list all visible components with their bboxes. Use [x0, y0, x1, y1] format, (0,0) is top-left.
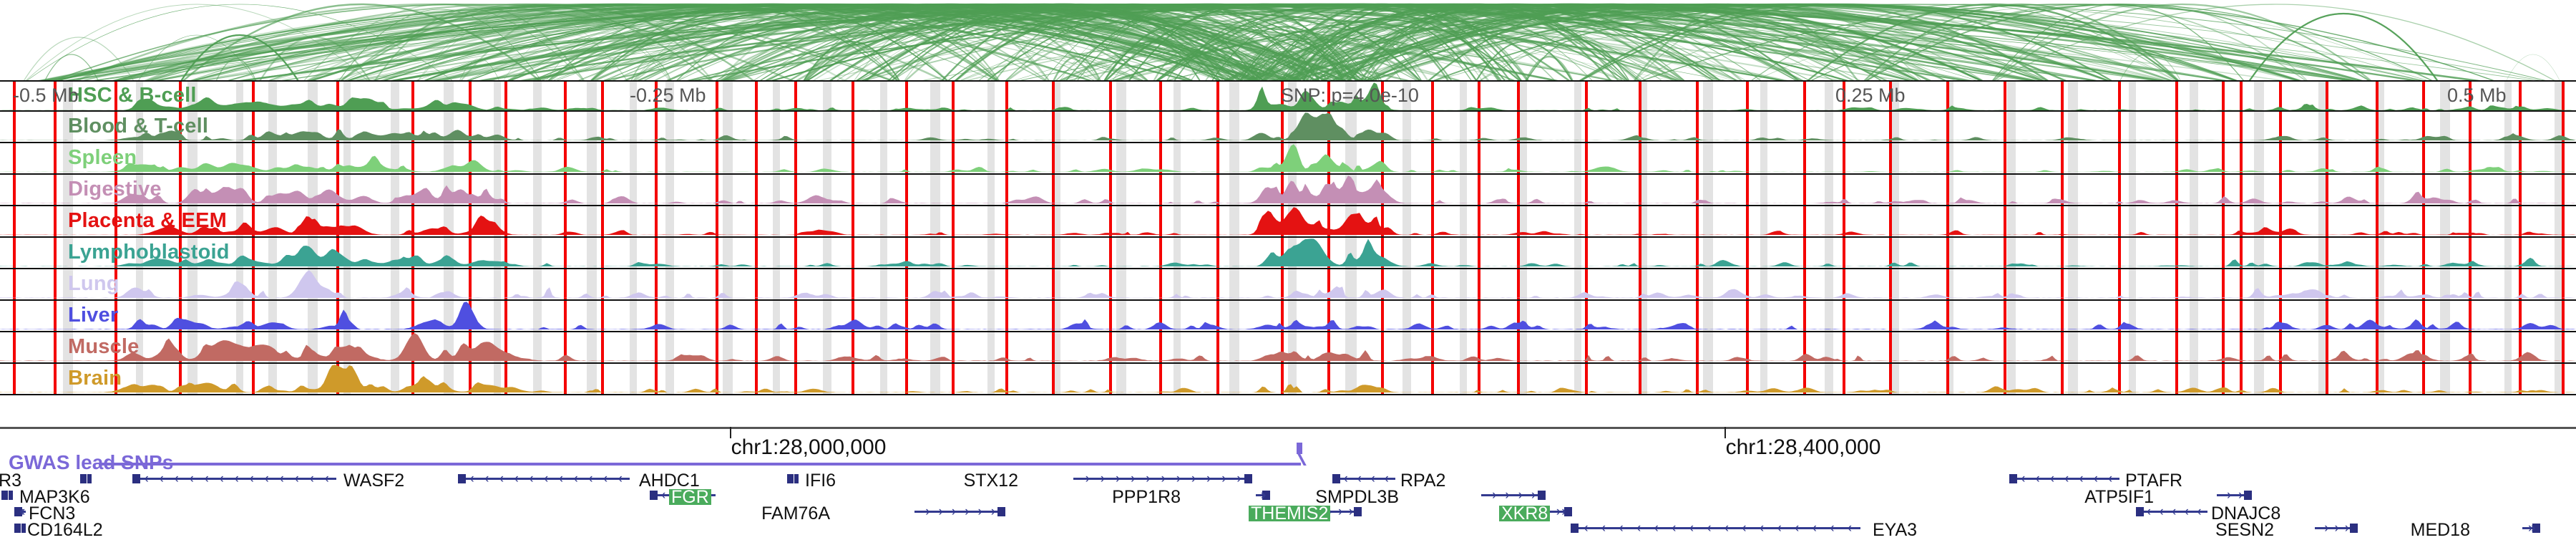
axis-tick-label: -0.5 Mb — [13, 85, 79, 107]
gene-strand-arrow: ‹ — [2094, 474, 2098, 483]
gene-strand-arrow: ‹ — [2172, 507, 2176, 516]
gene-model[interactable]: ››MED18 — [0, 522, 2576, 538]
signal-track-blood_t_cell: Blood & T-cell — [0, 112, 2576, 143]
gene-strand-arrow: ‹ — [2035, 474, 2039, 483]
gene-strand-arrow: ‹ — [2021, 474, 2025, 483]
gene-strand-arrow: ‹ — [2050, 474, 2054, 483]
genome-browser-figure: HSC & B-cell-0.5 Mb-0.25 Mb0.25 Mb0.5 Mb… — [0, 0, 2576, 537]
signal-track-hsc_b_cell: HSC & B-cell-0.5 Mb-0.25 Mb0.25 Mb0.5 Mb… — [0, 80, 2576, 112]
signal-profile — [0, 301, 2576, 331]
gene-strand-arrow: ‹ — [2147, 507, 2151, 516]
gene-strand-arrow: ‹ — [2108, 474, 2112, 483]
signal-profile — [0, 238, 2576, 268]
ruler-line — [0, 427, 2576, 429]
signal-track-muscle: Muscle — [0, 332, 2576, 364]
gene-strand-arrow: ‹ — [2159, 507, 2163, 516]
gene-strand-arrow: ‹ — [2079, 474, 2083, 483]
gene-model[interactable]: ››ATP5IF1 — [0, 489, 2576, 505]
gene-strand-arrow: › — [2238, 491, 2243, 500]
signal-profile — [0, 112, 2576, 142]
signal-track-lung: Lung — [0, 269, 2576, 301]
gene-terminus — [2244, 491, 2252, 500]
signal-profile — [0, 269, 2576, 299]
signal-track-stack: HSC & B-cell-0.5 Mb-0.25 Mb0.25 Mb0.5 Mb… — [0, 80, 2576, 427]
gene-strand-arrow: › — [2227, 491, 2231, 500]
gene-terminus — [2009, 474, 2017, 483]
signal-track-placenta_eem: Placenta & EEM — [0, 206, 2576, 238]
snp-pvalue-annotation: SNP: p=4.0e-10 — [1281, 85, 1419, 107]
signal-track-lymphoblastoid: Lymphoblastoid — [0, 238, 2576, 269]
gene-label[interactable]: MED18 — [2411, 522, 2470, 538]
gene-label[interactable]: ATP5IF1 — [2084, 489, 2154, 505]
gene-strand-arrow: ‹ — [2197, 507, 2201, 516]
signal-track-digestive: Digestive — [0, 175, 2576, 206]
signal-profile — [0, 143, 2576, 173]
signal-profile — [0, 364, 2576, 394]
axis-tick-label: 0.25 Mb — [1835, 85, 1906, 107]
signal-profile — [0, 175, 2576, 205]
signal-profile — [0, 206, 2576, 236]
gene-model[interactable]: ‹‹‹‹‹‹‹PTAFR — [0, 473, 2576, 488]
gene-strand-arrow: ‹ — [2185, 507, 2189, 516]
gene-terminus — [2136, 507, 2144, 516]
gene-model-track: GPR3‹‹‹‹‹‹‹‹‹‹‹‹‹WASF2‹‹‹‹‹‹‹‹‹‹‹AHDC1IF… — [0, 473, 2576, 537]
signal-profile — [0, 332, 2576, 362]
signal-track-spleen: Spleen — [0, 143, 2576, 175]
chromatin-interaction-arc-panel — [0, 0, 2576, 80]
axis-tick-label: 0.5 Mb — [2447, 85, 2507, 107]
gene-model[interactable]: ‹‹‹‹‹DNAJC8 — [0, 506, 2576, 521]
axis-tick-label: -0.25 Mb — [630, 85, 706, 107]
signal-track-liver: Liver — [0, 301, 2576, 332]
gene-label[interactable]: PTAFR — [2125, 473, 2182, 488]
gene-label[interactable]: DNAJC8 — [2211, 506, 2280, 521]
gene-strand-arrow: ‹ — [2064, 474, 2069, 483]
signal-track-brain: Brain — [0, 364, 2576, 395]
gene-strand-arrow: › — [2531, 524, 2535, 533]
gwas-connector-line — [99, 463, 1301, 466]
